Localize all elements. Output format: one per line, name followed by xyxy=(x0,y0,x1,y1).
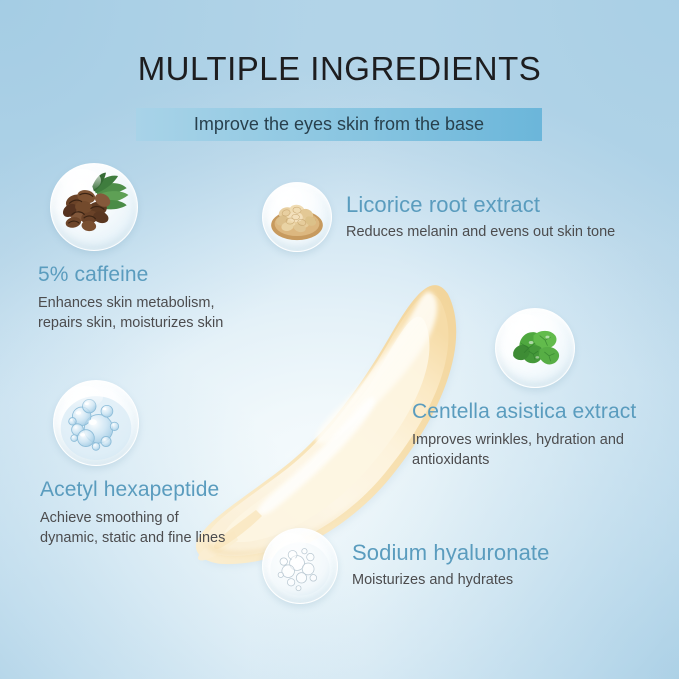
ingredients-infographic: MULTIPLE INGREDIENTS Improve the eyes sk… xyxy=(0,0,679,679)
ingredient-acetyl-hexapeptide: Acetyl hexapeptide Achieve smoothing of … xyxy=(40,380,240,548)
blue-bubbles-dish-icon xyxy=(53,380,139,466)
ingredient-desc-sodium: Moisturizes and hydrates xyxy=(352,570,549,590)
centella-leaves-dish-icon xyxy=(495,308,575,388)
ingredient-caffeine: 5% caffeine Enhances skin metabolism, re… xyxy=(38,163,243,333)
ingredient-title-centella: Centella asistica extract xyxy=(412,400,670,424)
ingredient-desc-acetyl: Achieve smoothing of dynamic, static and… xyxy=(40,508,240,548)
clear-gel-bubbles-dish-icon xyxy=(262,528,338,604)
licorice-root-slices-dish-icon xyxy=(262,182,332,252)
ingredient-desc-centella: Improves wrinkles, hydration and antioxi… xyxy=(412,430,670,470)
page-title: MULTIPLE INGREDIENTS xyxy=(0,50,679,88)
ingredient-title-licorice: Licorice root extract xyxy=(346,192,615,217)
ingredient-sodium-hyaluronate: Sodium hyaluronate Moisturizes and hydra… xyxy=(262,528,662,604)
ingredient-licorice: Licorice root extract Reduces melanin an… xyxy=(262,180,662,252)
ingredient-title-acetyl: Acetyl hexapeptide xyxy=(40,478,240,502)
ingredient-title-caffeine: 5% caffeine xyxy=(38,263,243,287)
subtitle-text: Improve the eyes skin from the base xyxy=(194,114,484,135)
ingredient-desc-caffeine: Enhances skin metabolism, repairs skin, … xyxy=(38,293,243,333)
ingredient-title-sodium: Sodium hyaluronate xyxy=(352,540,549,565)
ingredient-centella: Centella asistica extract Improves wrink… xyxy=(412,308,670,470)
ingredient-desc-licorice: Reduces melanin and evens out skin tone xyxy=(346,222,615,242)
subtitle-banner: Improve the eyes skin from the base xyxy=(136,108,542,141)
coffee-beans-dish-icon xyxy=(50,163,138,251)
